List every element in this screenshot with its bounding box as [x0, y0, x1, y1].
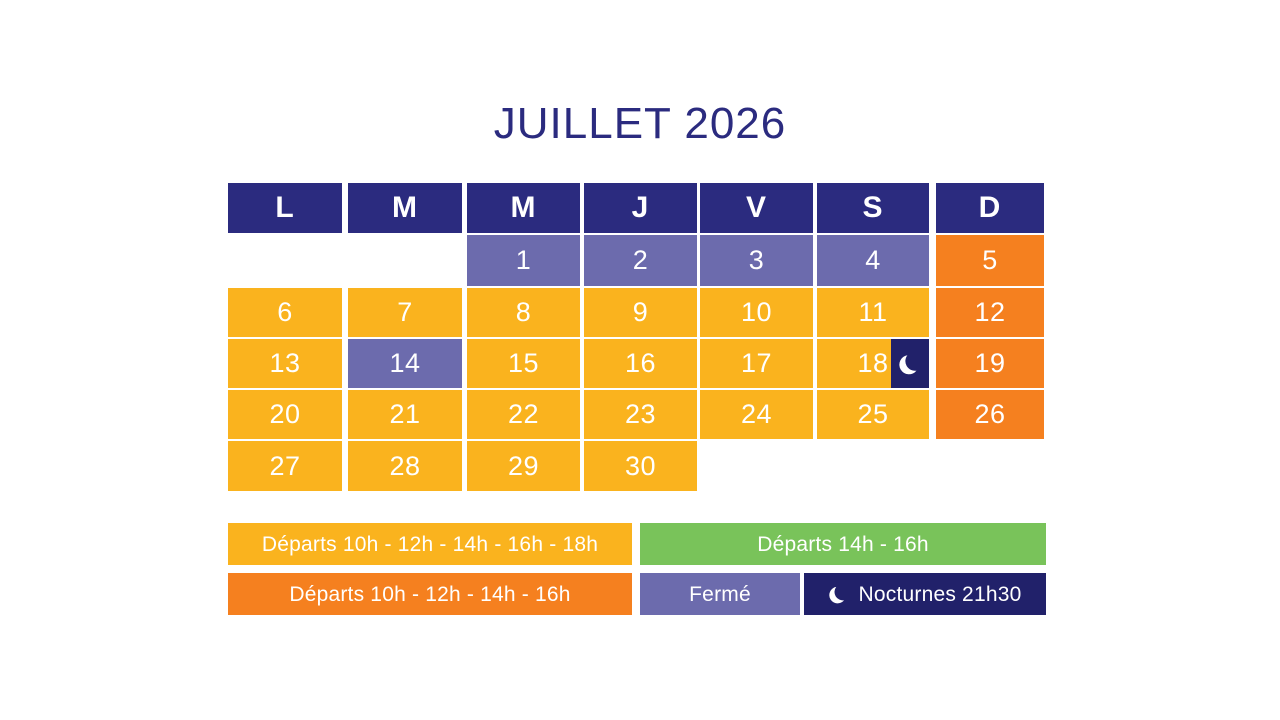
legend-departs-10-12-14-16-18: Départs 10h - 12h - 14h - 16h - 18h: [228, 523, 632, 565]
weekday-header-samedi: S: [817, 183, 929, 233]
calendar-day-15[interactable]: 15: [467, 339, 580, 388]
calendar-day-24[interactable]: 24: [700, 390, 813, 439]
legend-departs-10-12-14-16-18-label: Départs 10h - 12h - 14h - 16h - 18h: [262, 534, 598, 555]
calendar-page: JUILLET 2026 LMMJVSD12345678910111213141…: [0, 0, 1280, 720]
weekday-header-vendredi: V: [700, 183, 813, 233]
calendar-grid: LMMJVSD123456789101112131415161718192021…: [228, 183, 1044, 491]
legend-ferme-label: Fermé: [689, 584, 751, 605]
legend-departs-10-12-14-16-label: Départs 10h - 12h - 14h - 16h: [289, 584, 570, 605]
calendar-day-21[interactable]: 21: [348, 390, 462, 439]
calendar-day-22[interactable]: 22: [467, 390, 580, 439]
calendar-day-6[interactable]: 6: [228, 288, 342, 337]
calendar-day-2[interactable]: 2: [584, 235, 697, 286]
weekday-header-mardi: M: [348, 183, 462, 233]
legend-departs-14-16-label: Départs 14h - 16h: [757, 534, 929, 555]
legend-nocturnes: Nocturnes 21h30: [804, 573, 1046, 615]
calendar-cell-empty: [817, 441, 929, 491]
page-title: JUILLET 2026: [0, 96, 1280, 152]
calendar-day-30[interactable]: 30: [584, 441, 697, 491]
calendar-day-12[interactable]: 12: [936, 288, 1044, 337]
calendar-day-13[interactable]: 13: [228, 339, 342, 388]
calendar-day-26[interactable]: 26: [936, 390, 1044, 439]
calendar-day-27[interactable]: 27: [228, 441, 342, 491]
calendar-day-8[interactable]: 8: [467, 288, 580, 337]
calendar-day-25[interactable]: 25: [817, 390, 929, 439]
calendar-cell-empty: [348, 235, 462, 286]
weekday-header-dimanche: D: [936, 183, 1044, 233]
calendar-legend: Départs 10h - 12h - 14h - 16h - 18hDépar…: [228, 523, 1046, 619]
calendar-day-7[interactable]: 7: [348, 288, 462, 337]
calendar-cell-empty: [936, 441, 1044, 491]
calendar-cell-empty: [700, 441, 813, 491]
calendar-day-29[interactable]: 29: [467, 441, 580, 491]
calendar-day-1[interactable]: 1: [467, 235, 580, 286]
calendar-day-10[interactable]: 10: [700, 288, 813, 337]
legend-ferme: Fermé: [640, 573, 800, 615]
calendar-day-3[interactable]: 3: [700, 235, 813, 286]
calendar-day-20[interactable]: 20: [228, 390, 342, 439]
calendar-day-16[interactable]: 16: [584, 339, 697, 388]
calendar-day-11[interactable]: 11: [817, 288, 929, 337]
calendar-cell-empty: [228, 235, 342, 286]
calendar-day-17[interactable]: 17: [700, 339, 813, 388]
calendar-day-19[interactable]: 19: [936, 339, 1044, 388]
legend-nocturnes-label: Nocturnes 21h30: [859, 584, 1022, 605]
calendar-day-14[interactable]: 14: [348, 339, 462, 388]
calendar-day-5[interactable]: 5: [936, 235, 1044, 286]
calendar-day-28[interactable]: 28: [348, 441, 462, 491]
weekday-header-lundi: L: [228, 183, 342, 233]
legend-departs-14-16: Départs 14h - 16h: [640, 523, 1046, 565]
weekday-header-jeudi: J: [584, 183, 697, 233]
nocturne-badge-day-18[interactable]: [891, 339, 929, 388]
calendar-day-23[interactable]: 23: [584, 390, 697, 439]
moon-icon: [829, 584, 848, 605]
moon-icon: [899, 352, 921, 376]
weekday-header-mercredi: M: [467, 183, 580, 233]
legend-departs-10-12-14-16: Départs 10h - 12h - 14h - 16h: [228, 573, 632, 615]
calendar-day-4[interactable]: 4: [817, 235, 929, 286]
calendar-day-9[interactable]: 9: [584, 288, 697, 337]
